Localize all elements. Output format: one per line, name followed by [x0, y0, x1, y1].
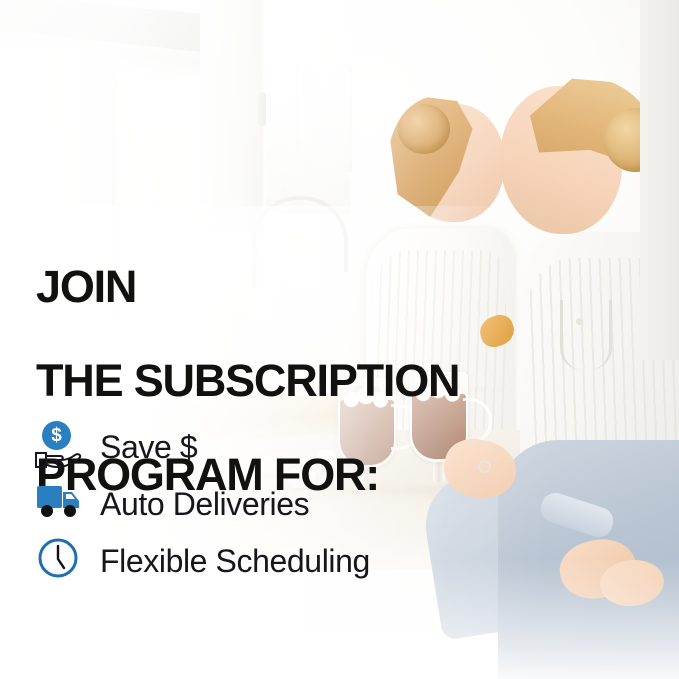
truck-glyph-icon — [36, 483, 84, 519]
feature-item-save: Save $ — [34, 418, 554, 475]
feature-label: Save $ — [100, 430, 197, 464]
clock-glyph-icon — [37, 537, 79, 579]
headline-line-1: JOIN — [36, 263, 516, 310]
feature-label: Auto Deliveries — [100, 487, 309, 521]
dollar-coin-icon — [42, 421, 71, 450]
subscription-promo-card: JOIN THE SUBSCRIPTION PROGRAM FOR: Save … — [0, 0, 679, 679]
feature-item-scheduling: Flexible Scheduling — [34, 532, 554, 589]
promo-content: JOIN THE SUBSCRIPTION PROGRAM FOR: Save … — [0, 0, 679, 679]
headline-line-2: THE SUBSCRIPTION — [36, 357, 516, 404]
feature-item-deliveries: Auto Deliveries — [34, 475, 554, 532]
clock-icon — [34, 536, 86, 586]
hand-holding-dollar-coin-icon — [34, 422, 86, 472]
feature-list: Save $ Auto Deliveries — [34, 418, 554, 589]
open-hand-icon — [34, 448, 82, 470]
delivery-truck-icon — [34, 479, 86, 529]
feature-label: Flexible Scheduling — [100, 544, 370, 578]
